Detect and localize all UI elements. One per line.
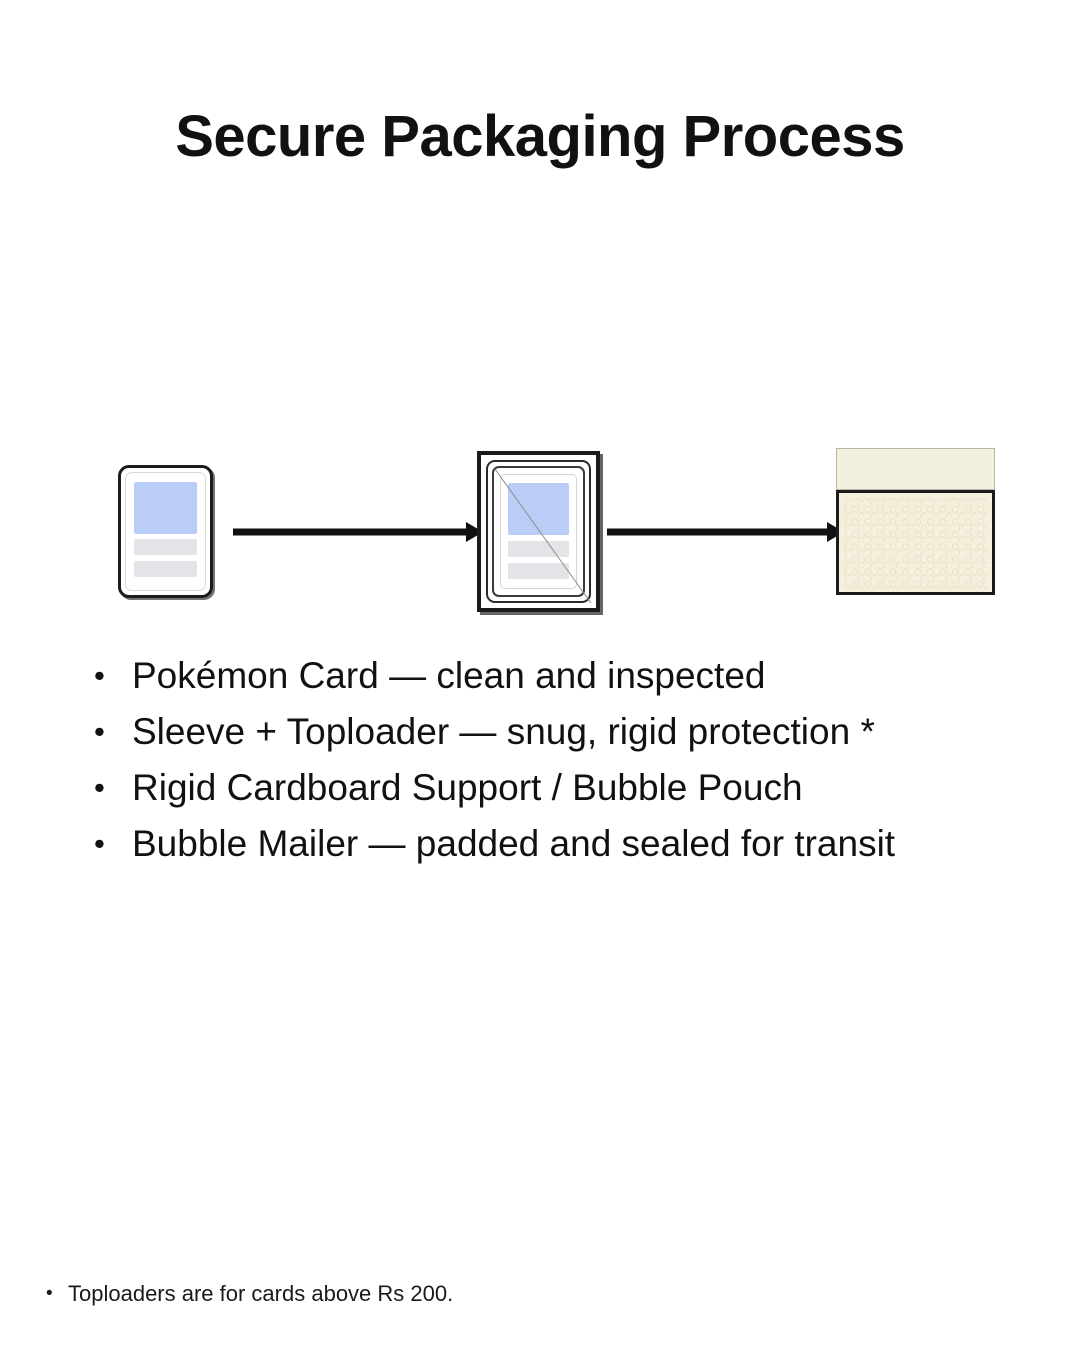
footnote-list: Toploaders are for cards above Rs 200. bbox=[36, 1278, 936, 1310]
card-face bbox=[125, 472, 206, 591]
footnote-item: Toploaders are for cards above Rs 200. bbox=[36, 1278, 936, 1310]
card-text-line bbox=[508, 563, 569, 579]
card-artwork-block bbox=[134, 482, 197, 534]
list-item: Rigid Cardboard Support / Bubble Pouch bbox=[86, 760, 1046, 816]
card-face bbox=[500, 474, 577, 589]
card-text-line bbox=[134, 561, 197, 577]
card-artwork-block bbox=[508, 483, 569, 535]
bubble-texture-pattern bbox=[839, 493, 992, 594]
list-item: Bubble Mailer — padded and sealed for tr… bbox=[86, 816, 1046, 872]
stage-pokemon-card bbox=[118, 465, 213, 598]
packaging-steps-list: Pokémon Card — clean and inspected Sleev… bbox=[86, 648, 1046, 872]
card-text-line bbox=[134, 539, 197, 555]
mailer-flap bbox=[836, 448, 995, 490]
page-title: Secure Packaging Process bbox=[0, 105, 1080, 169]
sleeve-shell bbox=[492, 466, 585, 597]
stage-sleeve-toploader bbox=[477, 451, 600, 612]
mailer-body bbox=[836, 490, 995, 595]
toploader-shell bbox=[486, 460, 591, 603]
stage-bubble-mailer bbox=[836, 448, 995, 595]
list-item: Pokémon Card — clean and inspected bbox=[86, 648, 1046, 704]
packaging-flow-diagram bbox=[0, 430, 1080, 630]
list-item: Sleeve + Toploader — snug, rigid protect… bbox=[86, 704, 1046, 760]
card-text-line bbox=[508, 541, 569, 557]
